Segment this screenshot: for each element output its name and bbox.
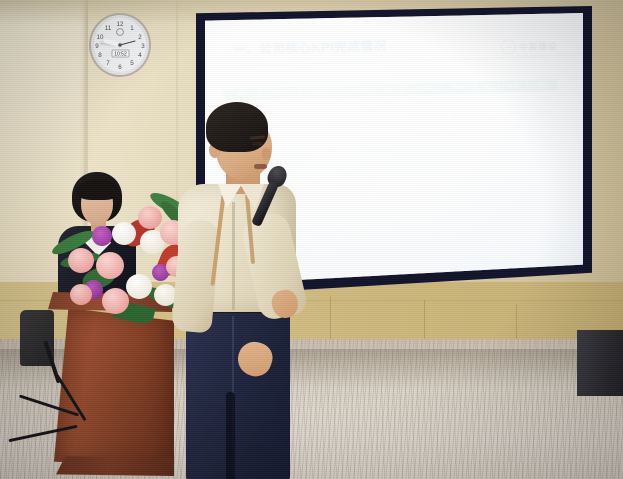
table-cell: 93.7%	[444, 107, 477, 121]
table-cell	[444, 134, 477, 148]
table-cell: 96.2%	[375, 96, 403, 110]
orchid	[92, 226, 112, 246]
table-header-cell: 完成率	[342, 84, 375, 98]
svg-text:1: 1	[130, 25, 134, 32]
table-cell	[344, 137, 377, 151]
flower-arrangement	[56, 196, 188, 336]
table-cell	[343, 110, 376, 124]
presenter-mouth	[254, 164, 267, 169]
logo-subtitle: CHINA ZHUANGSHI CONSTRUCTION	[516, 52, 583, 58]
svg-text:2: 2	[138, 34, 142, 41]
table-header-cell: 同比	[374, 83, 402, 97]
slide-title: 一、公司核心KPI完成情况	[233, 35, 387, 58]
logo-mark-icon	[501, 39, 516, 54]
svg-text:5: 5	[130, 60, 134, 67]
table-cell	[342, 97, 375, 111]
table-cell	[444, 120, 477, 134]
table-cell: 6,820	[499, 119, 529, 133]
presenter-eye	[252, 142, 263, 146]
table-cell: 102,30	[529, 105, 559, 119]
table-header-cell: 备注	[498, 79, 528, 93]
wall-clock: 12 1 2 3 4 5 6 7 8 9 10 11 10:52	[87, 12, 153, 78]
table-cell	[475, 93, 499, 107]
table-header-cell: 累计完成	[301, 85, 342, 99]
table-header-cell: 指标	[223, 87, 261, 101]
svg-text:9: 9	[95, 43, 99, 50]
table-cell: 102,560	[402, 95, 443, 110]
svg-text:6: 6	[118, 64, 122, 71]
pink-rose	[96, 252, 124, 279]
pink-rose	[68, 248, 94, 273]
logo-text: 中装建设	[519, 39, 557, 53]
table-cell: 88.4%	[529, 131, 559, 145]
loudspeaker-cabinet	[577, 330, 623, 396]
table-cell	[343, 123, 376, 137]
table-cell	[500, 132, 530, 146]
presenter-nose	[262, 148, 271, 160]
svg-text:4: 4	[138, 52, 142, 59]
svg-text:10: 10	[97, 34, 104, 41]
clock-digital-display: 10:52	[114, 52, 127, 58]
svg-text:11: 11	[105, 25, 112, 32]
pink-rose	[102, 288, 129, 314]
table-cell	[376, 136, 404, 150]
table-cell	[375, 123, 403, 137]
table-header-cell: 说明	[528, 79, 558, 93]
table-cell	[375, 109, 403, 123]
podium-base	[56, 456, 174, 476]
shirt-placket	[232, 202, 235, 310]
conference-room-photo: 一、公司核心KPI完成情况 中装建设 CHINA ZHUANGSHI CONST…	[0, 0, 623, 479]
pink-rose	[138, 206, 162, 229]
table-cell	[476, 120, 500, 134]
svg-text:12: 12	[117, 21, 124, 28]
table-cell	[403, 121, 444, 136]
white-rose	[126, 274, 152, 299]
pink-rose	[70, 284, 92, 305]
table-cell	[476, 133, 500, 147]
leg-separation	[226, 392, 235, 479]
table-header-cell: 上年同期	[402, 82, 443, 96]
table-header-cell: 占比	[475, 80, 499, 93]
table-cell	[403, 108, 444, 123]
white-rose	[112, 222, 136, 245]
table-header-cell: 年度目标	[260, 86, 301, 100]
slide-divider	[229, 57, 547, 67]
table-header-cell: 增长率	[443, 81, 476, 95]
svg-text:7: 7	[106, 60, 110, 67]
svg-text:3: 3	[141, 43, 145, 50]
presenter	[176, 102, 312, 479]
table-cell: 105,42	[528, 91, 558, 105]
table-cell: 7,150	[529, 118, 559, 132]
table-cell	[476, 106, 500, 120]
table-cell	[403, 135, 444, 150]
table-cell: 8.15%	[443, 94, 476, 108]
table-cell: 121,36	[499, 92, 529, 106]
table-cell: 85,420	[499, 106, 529, 120]
svg-text:8: 8	[98, 52, 102, 59]
